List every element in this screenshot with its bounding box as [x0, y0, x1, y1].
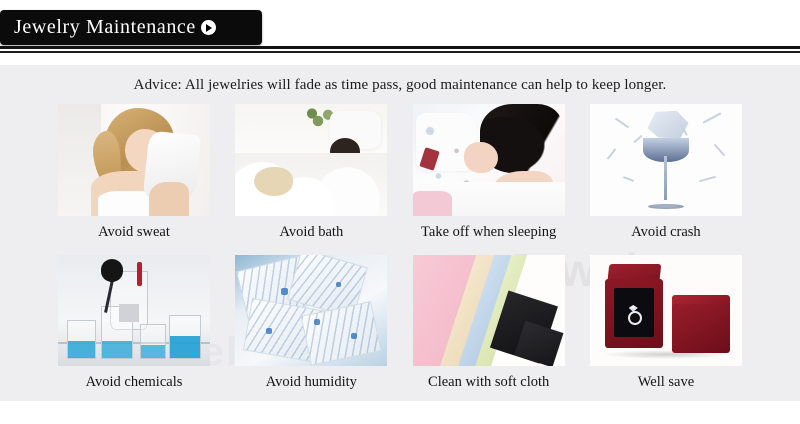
- tip-caption: Avoid sweat: [98, 224, 170, 241]
- avoid-crash-image: [590, 104, 742, 216]
- header-divider-thick: [0, 46, 800, 49]
- content-panel: Jewels Jewels Advice: All jewelries will…: [0, 65, 800, 401]
- advice-text: Advice: All jewelries will fade as time …: [0, 65, 800, 94]
- tip-card[interactable]: Clean with soft cloth: [411, 255, 567, 391]
- tips-row-1: Avoid sweat Avoid bath: [56, 104, 744, 241]
- avoid-sweat-image: [58, 104, 210, 216]
- avoid-humidity-image: [235, 255, 387, 366]
- tip-caption: Avoid bath: [279, 224, 343, 241]
- tip-caption: Avoid crash: [631, 224, 700, 241]
- tips-row-2: Avoid chemicals Avoid humidity: [56, 255, 744, 391]
- avoid-chemicals-image: [58, 255, 210, 366]
- clean-with-soft-cloth-image: [413, 255, 565, 366]
- tip-card[interactable]: Avoid sweat: [56, 104, 212, 241]
- tip-caption: Take off when sleeping: [421, 224, 556, 241]
- well-save-image: [590, 255, 742, 366]
- section-title-tab[interactable]: Jewelry Maintenance: [0, 10, 262, 45]
- tip-card[interactable]: Avoid chemicals: [56, 255, 212, 391]
- header: Jewelry Maintenance: [0, 0, 800, 56]
- tip-caption: Clean with soft cloth: [428, 374, 549, 391]
- jewelry-maintenance-banner: Jewelry Maintenance Jewels Jewels Advice…: [0, 0, 800, 424]
- page-title: Jewelry Maintenance: [14, 16, 196, 39]
- tip-caption: Well save: [638, 374, 694, 391]
- take-off-when-sleeping-image: [413, 104, 565, 216]
- avoid-bath-image: [235, 104, 387, 216]
- header-divider-thin: [0, 51, 800, 53]
- tip-card[interactable]: Avoid humidity: [233, 255, 389, 391]
- play-circle-icon[interactable]: [201, 20, 216, 35]
- tip-card[interactable]: Well save: [588, 255, 744, 391]
- tips-grid: Avoid sweat Avoid bath: [0, 104, 800, 391]
- tip-card[interactable]: Take off when sleeping: [411, 104, 567, 241]
- tip-caption: Avoid humidity: [266, 374, 357, 391]
- tip-card[interactable]: Avoid bath: [233, 104, 389, 241]
- tip-card[interactable]: Avoid crash: [588, 104, 744, 241]
- tip-caption: Avoid chemicals: [86, 374, 183, 391]
